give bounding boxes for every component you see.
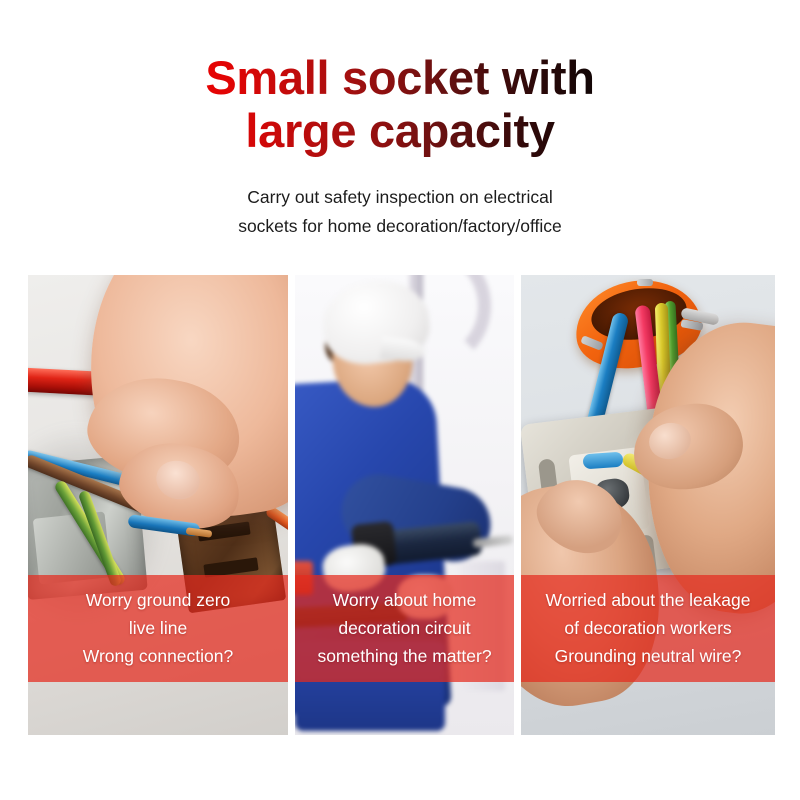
panel-caption: Worry ground zero live line Wrong connec…	[28, 575, 288, 682]
caption-line: decoration circuit	[338, 616, 470, 641]
page-title-line-1: Small socket with	[205, 51, 594, 104]
page-subtitle: Carry out safety inspection on electrica…	[165, 183, 635, 240]
page-subtitle-line-1: Carry out safety inspection on electrica…	[165, 183, 635, 211]
panel-worker-drill[interactable]: Worry about home decoration circuit some…	[295, 275, 514, 735]
page-title-line-2: large capacity	[165, 105, 635, 158]
caption-line: Worry ground zero	[86, 588, 231, 613]
caption-line: Wrong connection?	[83, 644, 233, 669]
blue-wire-terminal-end	[583, 452, 624, 470]
panel-caption: Worried about the leakage of decoration …	[521, 575, 775, 682]
panel-caption: Worry about home decoration circuit some…	[295, 575, 514, 682]
page-title: Small socket with large capacity	[165, 52, 635, 157]
caption-line: of decoration workers	[564, 616, 731, 641]
box-screw-top	[637, 279, 653, 286]
page-subtitle-line-2: sockets for home decoration/factory/offi…	[165, 212, 635, 240]
feature-panel-row: Worry ground zero live line Wrong connec…	[28, 275, 775, 735]
panel-electrician-screwdriver[interactable]: Worry ground zero live line Wrong connec…	[28, 275, 288, 735]
header-block: Small socket with large capacity Carry o…	[0, 0, 800, 240]
panel-socket-wiring[interactable]: Worried about the leakage of decoration …	[521, 275, 775, 735]
caption-line: something the matter?	[317, 644, 491, 669]
caption-line: Worry about home	[333, 588, 477, 613]
caption-line: live line	[129, 616, 187, 641]
caption-line: Worried about the leakage	[546, 588, 751, 613]
caption-line: Grounding neutral wire?	[555, 644, 742, 669]
